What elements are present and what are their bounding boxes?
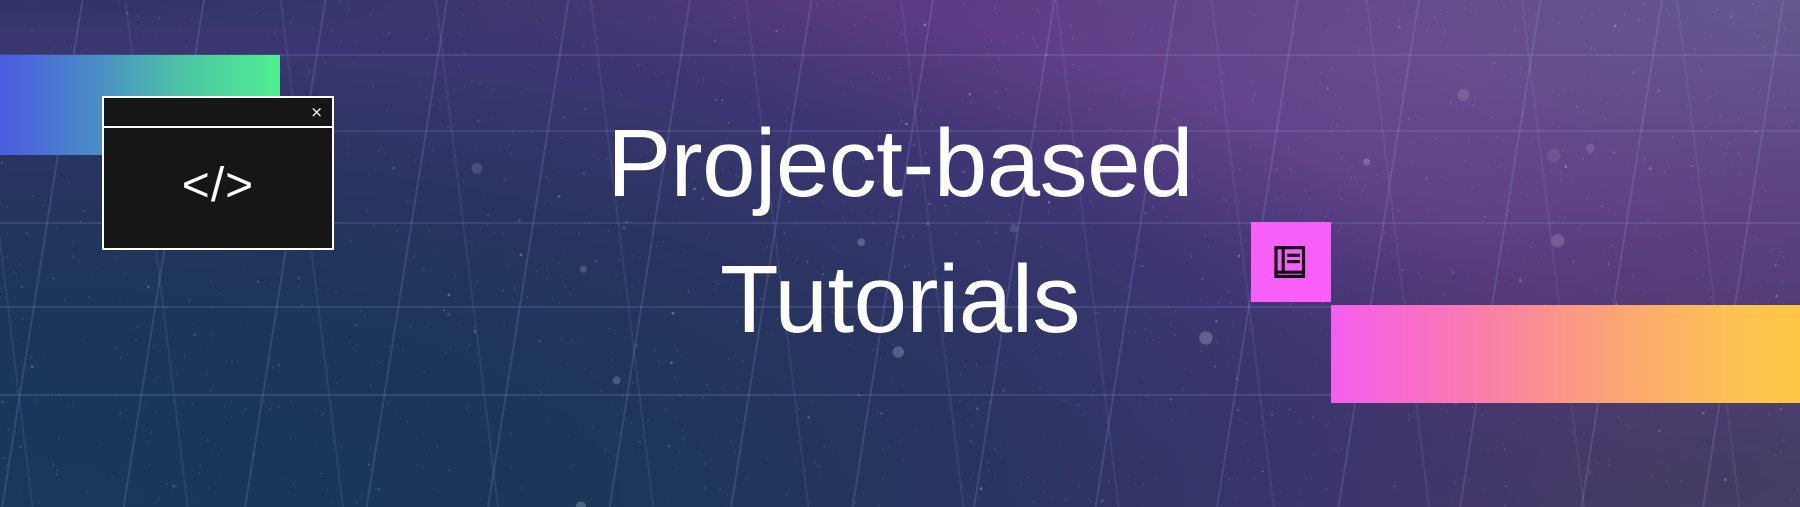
book-icon <box>1269 240 1313 284</box>
hero-banner: × </> Project-based Tutorials <box>0 0 1800 507</box>
page-title-line-1: Project-based <box>0 96 1800 232</box>
book-tile <box>1251 222 1331 302</box>
pink-orange-gradient-bar <box>1331 305 1800 403</box>
